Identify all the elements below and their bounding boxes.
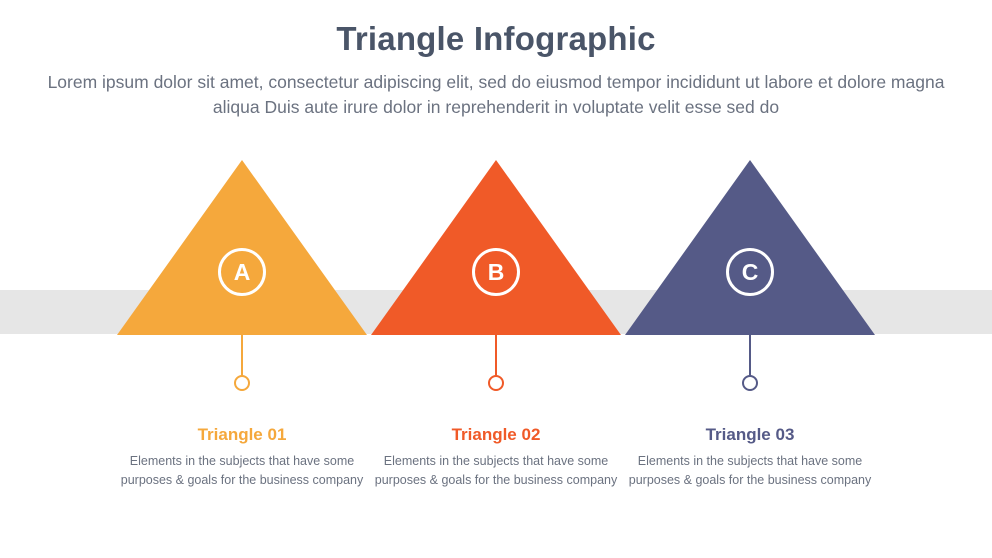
infographic-canvas: Triangle Infographic Lorem ipsum dolor s… [0,0,992,558]
page-subtitle: Lorem ipsum dolor sit amet, consectetur … [46,70,946,120]
item-description-a: Elements in the subjects that have some … [117,452,367,490]
page-title: Triangle Infographic [0,20,992,58]
infographic-item-b[interactable]: B Triangle 02 Elements in the subjects t… [371,160,621,335]
connector-b [371,335,621,405]
badge-label-a: A [234,259,251,286]
connector-line-b [495,335,497,377]
badge-b: B [472,248,520,296]
item-description-c: Elements in the subjects that have some … [625,452,875,490]
item-description-b: Elements in the subjects that have some … [371,452,621,490]
connector-a [117,335,367,405]
triangle-wrap-c: C [625,160,875,335]
connector-dot-b [488,375,504,391]
item-title-a: Triangle 01 [117,425,367,445]
item-title-b: Triangle 02 [371,425,621,445]
badge-a: A [218,248,266,296]
badge-c: C [726,248,774,296]
item-title-c: Triangle 03 [625,425,875,445]
connector-dot-c [742,375,758,391]
badge-label-c: C [742,259,759,286]
infographic-item-a[interactable]: A Triangle 01 Elements in the subjects t… [117,160,367,335]
triangle-wrap-b: B [371,160,621,335]
connector-c [625,335,875,405]
infographic-item-c[interactable]: C Triangle 03 Elements in the subjects t… [625,160,875,335]
connector-dot-a [234,375,250,391]
triangle-wrap-a: A [117,160,367,335]
connector-line-a [241,335,243,377]
connector-line-c [749,335,751,377]
badge-label-b: B [488,259,505,286]
